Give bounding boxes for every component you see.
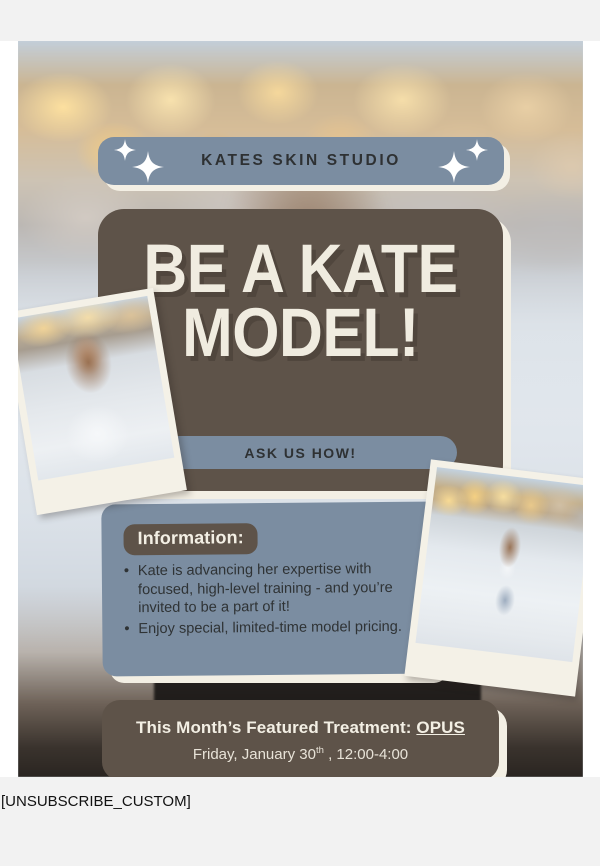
header-banner: KATES SKIN STUDIO [98, 137, 504, 185]
studio-name: KATES SKIN STUDIO [201, 152, 401, 170]
list-item: Enjoy special, limited-time model pricin… [138, 618, 426, 639]
sparkle-icon [466, 139, 488, 161]
featured-treatment-name: OPUS [416, 718, 465, 737]
sparkle-icon [438, 151, 470, 183]
portrait-photo-left-image [18, 296, 174, 481]
information-heading-chip: Information: [123, 523, 257, 555]
portrait-photo-right [404, 459, 583, 696]
featured-treatment-heading: This Month’s Featured Treatment: OPUS [136, 718, 465, 738]
sparkle-icon [114, 139, 136, 161]
featured-time: , 12:00-4:00 [324, 746, 408, 763]
information-bullet-list: Kate is advancing her expertise with foc… [118, 560, 427, 641]
unsubscribe-link[interactable]: [UNSUBSCRIBE_CUSTOM] [0, 793, 600, 810]
sparkle-icon [132, 151, 164, 183]
flyer-container: KATES SKIN STUDIO BE A KATE MODEL! ASK U… [0, 41, 600, 777]
hero-title-line2: MODEL! [122, 301, 478, 365]
featured-date: Friday, January 30 [193, 746, 316, 763]
ask-us-how-button[interactable]: ASK US HOW! [145, 436, 457, 469]
featured-treatment-datetime: Friday, January 30th , 12:00-4:00 [193, 745, 408, 763]
portrait-photo-right-image [415, 467, 583, 662]
information-panel: Information: Kate is advancing her exper… [101, 502, 440, 677]
hero-title: BE A KATE MODEL! [122, 237, 478, 365]
information-heading: Information: [137, 527, 243, 548]
email-body: KATES SKIN STUDIO BE A KATE MODEL! ASK U… [0, 0, 600, 866]
featured-treatment-label: This Month’s Featured Treatment: [136, 718, 416, 737]
list-item: Kate is advancing her expertise with foc… [138, 560, 426, 619]
featured-date-ordinal: th [316, 745, 324, 756]
ask-us-how-label: ASK US HOW! [244, 445, 356, 461]
promo-flyer: KATES SKIN STUDIO BE A KATE MODEL! ASK U… [18, 41, 583, 777]
featured-treatment-card: This Month’s Featured Treatment: OPUS Fr… [102, 700, 499, 777]
